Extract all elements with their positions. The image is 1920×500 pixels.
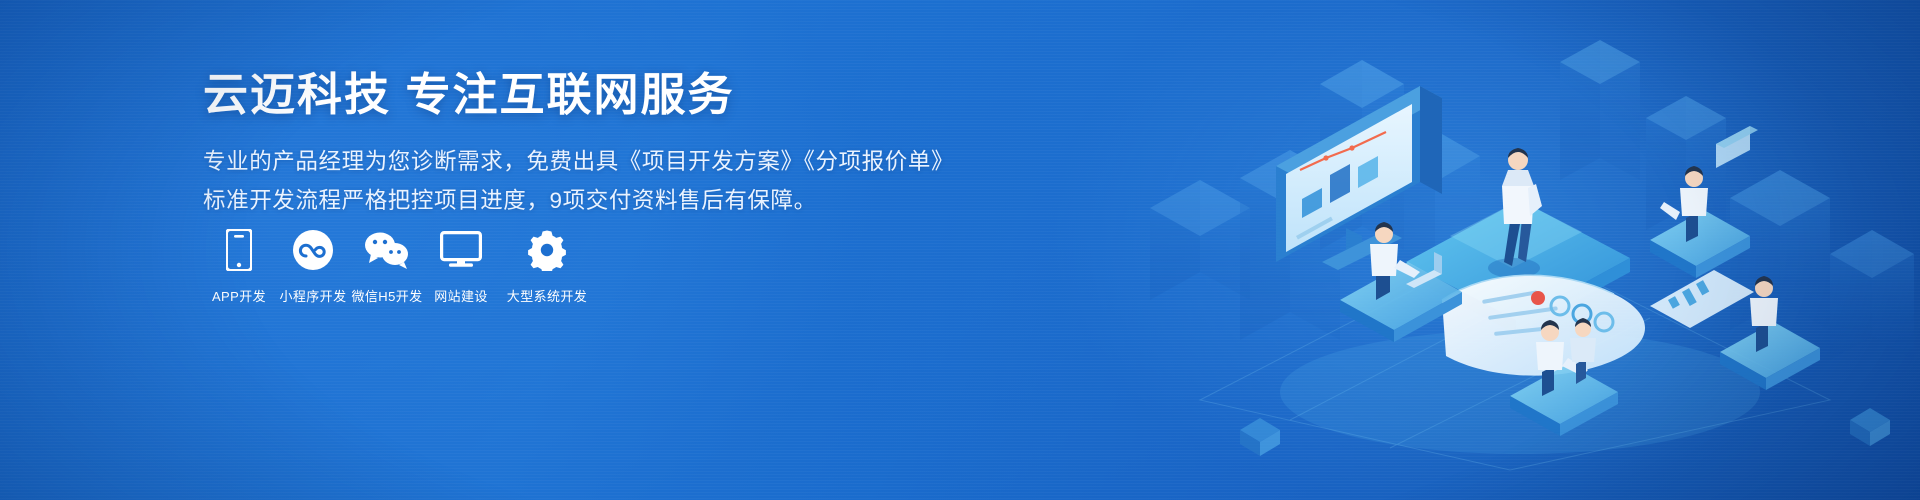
hero-banner: 云迈科技 专注互联网服务 专业的产品经理为您诊断需求，免费出具《项目开发方案》《… bbox=[0, 0, 1920, 500]
service-list: APP开发 小程序开发 bbox=[203, 228, 597, 305]
service-label: 小程序开发 bbox=[279, 286, 346, 305]
hero-illustration bbox=[1090, 0, 1920, 500]
service-label: 微信H5开发 bbox=[351, 286, 422, 305]
service-item-large-system[interactable]: 大型系统开发 bbox=[499, 228, 595, 305]
page-title: 云迈科技 专注互联网服务 bbox=[203, 68, 903, 121]
mini-program-icon bbox=[292, 228, 334, 272]
service-label: 网站建设 bbox=[434, 286, 488, 305]
service-label: APP开发 bbox=[212, 286, 266, 305]
service-label: 大型系统开发 bbox=[507, 286, 587, 305]
service-item-app[interactable]: APP开发 bbox=[203, 228, 275, 305]
service-item-mini-program[interactable]: 小程序开发 bbox=[277, 228, 349, 305]
hero-copy: 云迈科技 专注互联网服务 专业的产品经理为您诊断需求，免费出具《项目开发方案》《… bbox=[203, 68, 903, 220]
hero-subtitle-line-2: 标准开发流程严格把控项目进度，9项交付资料售后有保障。 bbox=[203, 182, 903, 221]
wechat-icon bbox=[363, 228, 411, 272]
service-item-website[interactable]: 网站建设 bbox=[425, 228, 497, 305]
hero-subtitle-line-1: 专业的产品经理为您诊断需求，免费出具《项目开发方案》《分项报价单》 bbox=[203, 143, 903, 182]
hero-subtitle: 专业的产品经理为您诊断需求，免费出具《项目开发方案》《分项报价单》 标准开发流程… bbox=[203, 143, 903, 220]
gear-icon bbox=[526, 228, 568, 272]
mobile-phone-icon bbox=[226, 228, 252, 272]
monitor-icon bbox=[440, 228, 482, 272]
service-item-wechat-h5[interactable]: 微信H5开发 bbox=[351, 228, 423, 305]
